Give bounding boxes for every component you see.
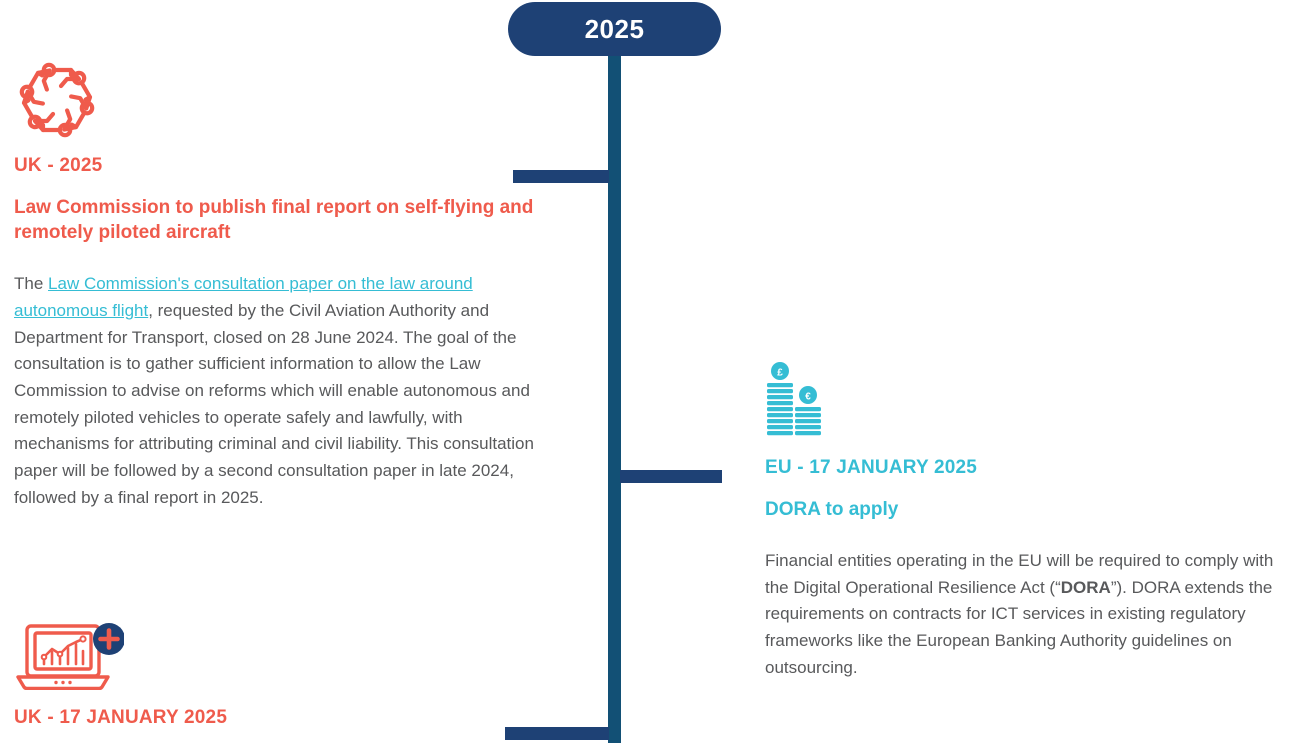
- timeline-infographic: 2025: [0, 0, 1292, 743]
- entry-date-uk-17jan: UK - 17 JANUARY 2025: [14, 707, 539, 729]
- year-label: 2025: [585, 14, 645, 45]
- entry-title-uk-2025: Law Commission to publish final report o…: [14, 195, 539, 245]
- entry-date-eu-dora: EU - 17 JANUARY 2025: [765, 457, 1285, 479]
- timeline-axis: [608, 28, 621, 743]
- body-text-after-link: , requested by the Civil Aviation Author…: [14, 301, 534, 507]
- body-text-before-link: The: [14, 274, 48, 293]
- connector-eu-dora: [620, 470, 722, 483]
- timeline-entry-uk-2025: UK - 2025 Law Commission to publish fina…: [14, 62, 539, 511]
- circuit-network-icon: [14, 62, 539, 143]
- entry-date-uk-2025: UK - 2025: [14, 155, 539, 177]
- timeline-entry-uk-17jan: UK - 17 JANUARY 2025: [14, 622, 539, 729]
- coin-stacks-icon: £ €: [765, 362, 1285, 445]
- entry-title-eu-dora: DORA to apply: [765, 497, 1285, 522]
- entry-body-uk-2025: The Law Commission's consultation paper …: [14, 271, 539, 511]
- svg-text:£: £: [777, 368, 783, 379]
- dora-abbreviation: DORA: [1061, 578, 1111, 597]
- svg-text:€: €: [805, 392, 811, 403]
- timeline-entry-eu-dora: £ €: [765, 362, 1285, 682]
- entry-body-eu-dora: Financial entities operating in the EU w…: [765, 548, 1285, 681]
- year-pill: 2025: [508, 2, 721, 56]
- laptop-chart-plus-icon: [14, 622, 539, 695]
